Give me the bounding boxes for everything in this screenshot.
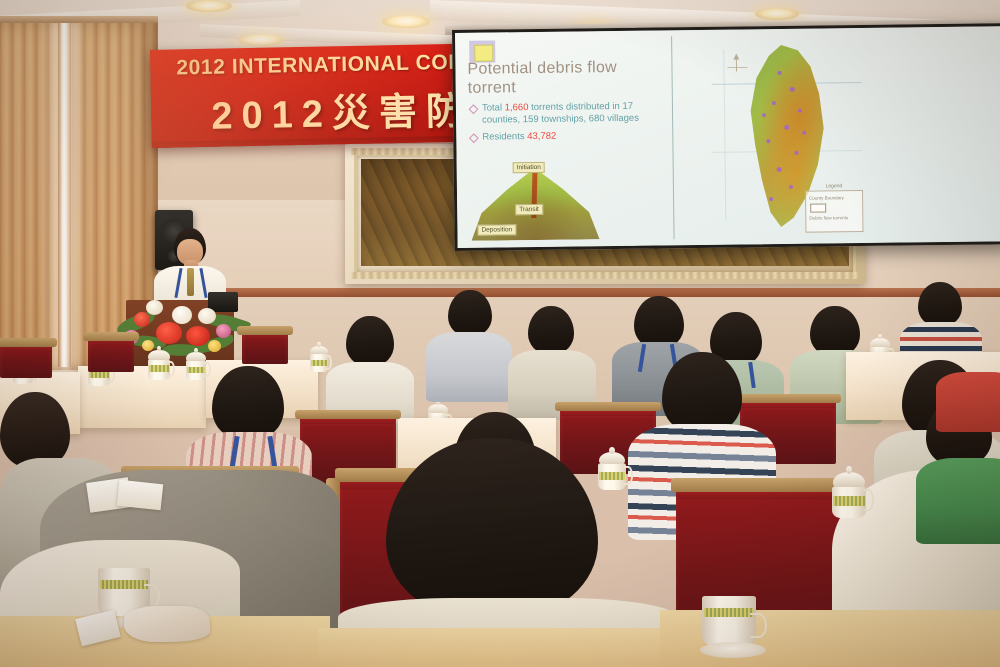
green-shirt	[916, 458, 1000, 544]
bullet-pre: Residents	[482, 131, 527, 143]
torrent-point	[778, 71, 782, 75]
torrent-point	[802, 131, 806, 135]
head	[662, 352, 742, 434]
torrent-point	[777, 167, 782, 172]
bullet-highlight: 43,782	[527, 131, 556, 142]
legend-item-county: County Boundary	[809, 195, 844, 200]
head	[918, 282, 962, 326]
torrent-point	[798, 109, 802, 113]
audience-chair	[0, 344, 52, 378]
slide-bullet: Total 1,660 torrents distributed in 17 c…	[470, 100, 666, 127]
diagram-label-initiation: Initiation	[513, 162, 545, 173]
foreground-table	[318, 628, 678, 667]
audience-chair	[242, 332, 288, 364]
ceramic-mug	[702, 596, 756, 646]
slide-divider	[671, 36, 674, 239]
torrent-point	[790, 87, 795, 92]
head	[528, 306, 574, 354]
conference-hall-photo: 2012 INTERNATIONAL CONFERENCE ON DISASTE…	[0, 0, 1000, 667]
slide-title: Potential debris flow torrent	[467, 57, 667, 97]
head	[634, 296, 684, 348]
ceiling-downlight	[186, 0, 232, 12]
head	[212, 366, 284, 440]
legend-item-torrents: Debris flow torrents	[809, 215, 848, 220]
slide-bullet: Residents 43,782	[470, 129, 666, 144]
ceiling-downlight	[382, 15, 430, 28]
shirt	[426, 332, 512, 402]
audience-chair	[88, 338, 134, 372]
diamond-bullet-icon	[469, 104, 479, 114]
napkin	[124, 606, 210, 642]
head	[346, 316, 394, 366]
red-bloom	[134, 312, 150, 327]
diagram-label-deposition: Deposition	[477, 224, 516, 235]
torrent-point	[772, 101, 776, 105]
white-bloom	[172, 306, 192, 324]
diagram-label-transit: Transit	[515, 204, 543, 215]
frame-ornament	[351, 272, 859, 279]
slide-bullet-list: Total 1,660 torrents distributed in 17 c…	[470, 100, 667, 148]
bullet-pre: Total	[482, 102, 505, 113]
yellow-bloom	[208, 340, 221, 352]
map-legend: Legend County Boundary Debris flow torre…	[805, 190, 864, 233]
torrent-point	[795, 151, 799, 155]
paper-handout	[117, 480, 163, 510]
bullet-highlight: 1,660	[505, 102, 529, 113]
lidded-teacup	[148, 350, 170, 380]
head	[810, 306, 860, 356]
taiwan-hazard-map: Legend County Boundary Debris flow torre…	[705, 38, 867, 235]
lidded-teacup	[598, 452, 626, 490]
torrent-point	[789, 185, 793, 189]
audience-member	[426, 290, 512, 400]
ceiling-downlight	[755, 8, 799, 20]
pink-bloom	[216, 324, 231, 338]
curtain-light-gap	[58, 22, 71, 367]
white-bloom	[198, 308, 216, 324]
torrent-point	[784, 125, 789, 130]
diamond-bullet-icon	[469, 133, 479, 143]
red-bloom	[186, 326, 210, 346]
lidded-teacup	[832, 472, 866, 518]
presentation-slide: Potential debris flow torrent Total 1,66…	[455, 26, 1000, 248]
white-bloom	[146, 300, 163, 315]
saucer	[700, 642, 766, 658]
head	[448, 290, 492, 336]
ceiling-downlight	[238, 34, 284, 46]
red-bloom	[156, 322, 182, 344]
north-arrow-icon	[721, 53, 751, 75]
red-shirt	[936, 372, 1000, 432]
projection-screen: Potential debris flow torrent Total 1,66…	[452, 23, 1000, 251]
audience-member	[936, 354, 1000, 428]
torrent-point	[766, 139, 770, 143]
torrent-point	[769, 197, 773, 201]
legend-swatch-county	[810, 203, 826, 212]
torrent-point	[762, 113, 766, 117]
head	[0, 392, 70, 468]
head	[386, 438, 598, 618]
curtain-rail	[0, 16, 158, 23]
legend-title: Legend	[806, 183, 862, 190]
debris-flow-diagram: Initiation Transit Deposition	[471, 159, 600, 241]
